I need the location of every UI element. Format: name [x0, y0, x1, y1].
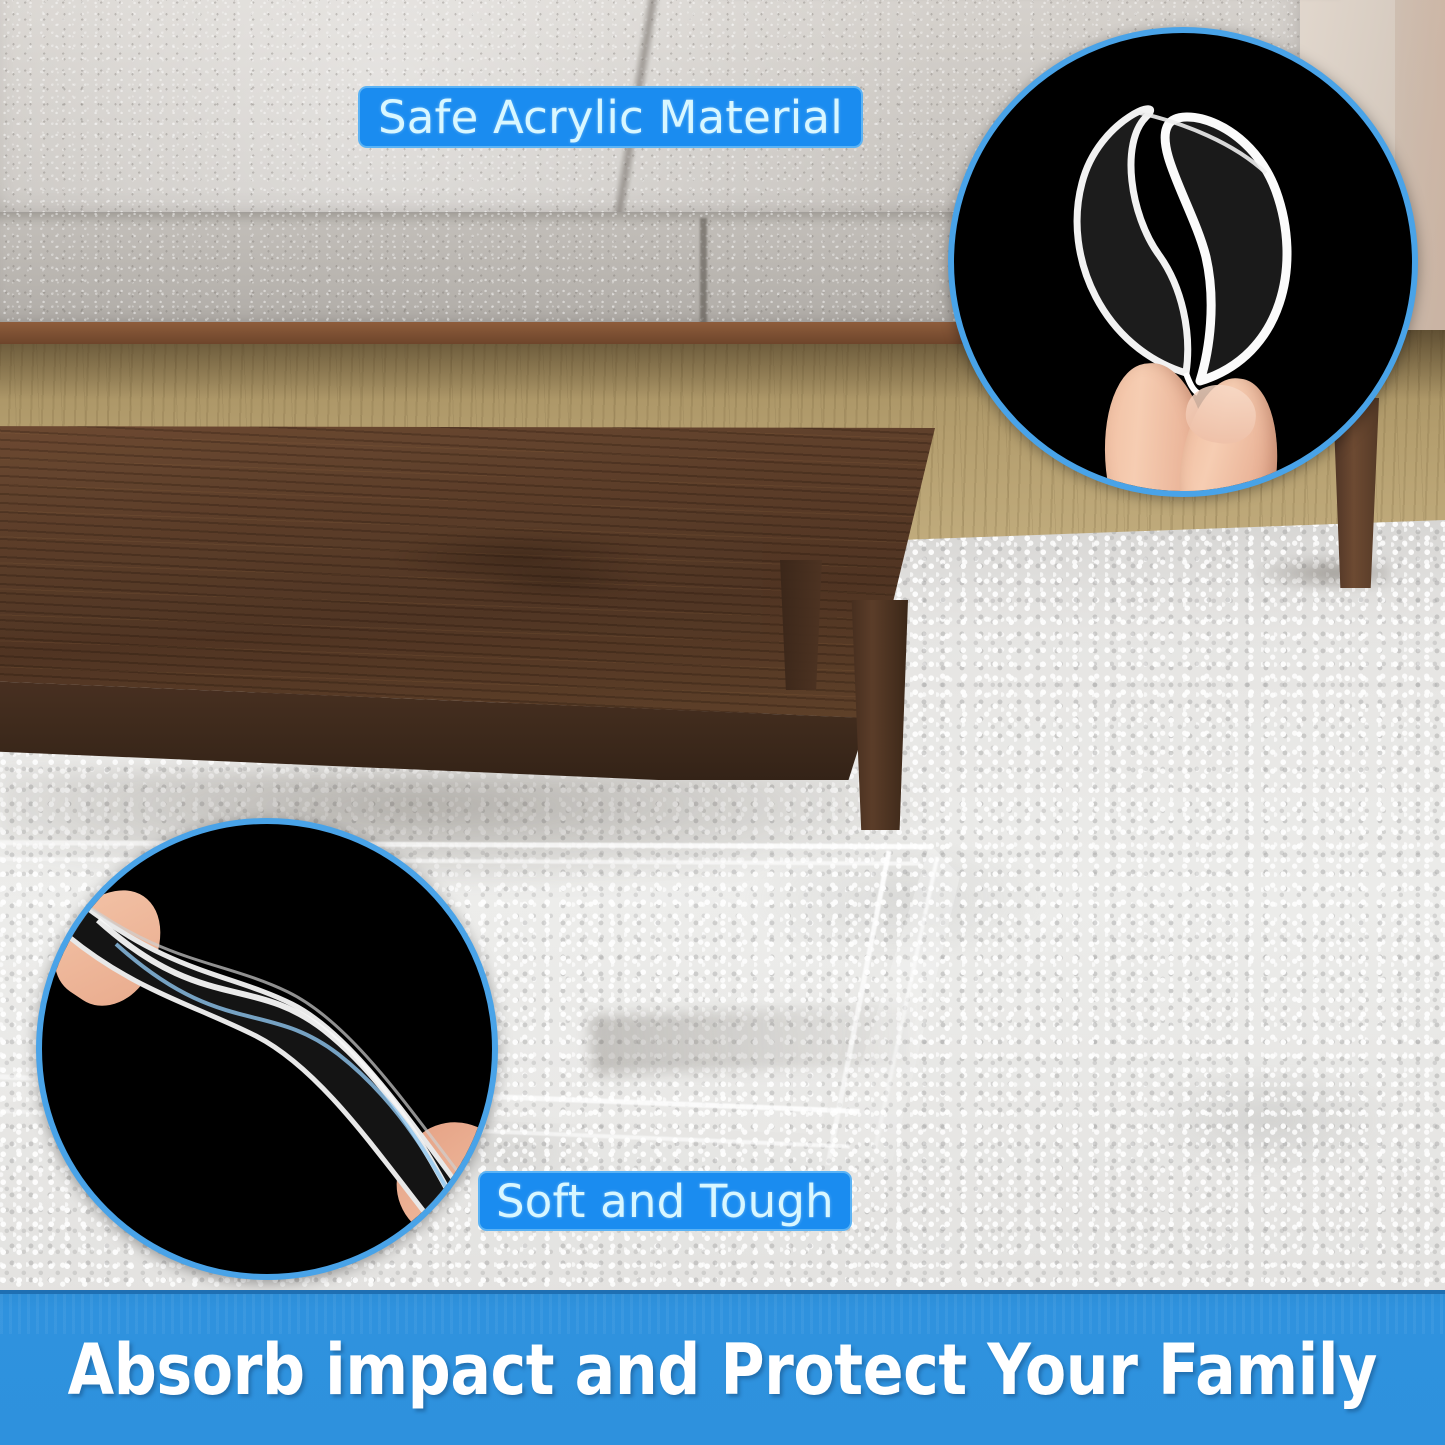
- sofa-seat-seam: [700, 218, 707, 330]
- inset-top-right-content: [954, 33, 1412, 491]
- coffee-table: [0, 418, 970, 758]
- table-top-grain-knot: [340, 498, 700, 618]
- bottom-banner: Absorb impact and Protect Your Family: [0, 1290, 1445, 1445]
- flexing-strip-illustration: [42, 824, 492, 1274]
- table-leg-back: [780, 560, 822, 690]
- product-image-canvas: Safe Acrylic Material Soft and Tough Abs…: [0, 0, 1445, 1445]
- inset-bottom-left-content: [42, 824, 492, 1274]
- badge-safe-acrylic-material: Safe Acrylic Material: [358, 86, 863, 148]
- inset-soft-and-tough: [36, 818, 498, 1280]
- badge-soft-and-tough: Soft and Tough: [478, 1171, 852, 1231]
- inset-safe-acrylic-material: [948, 27, 1418, 497]
- banner-headline: Absorb impact and Protect Your Family: [68, 1329, 1377, 1411]
